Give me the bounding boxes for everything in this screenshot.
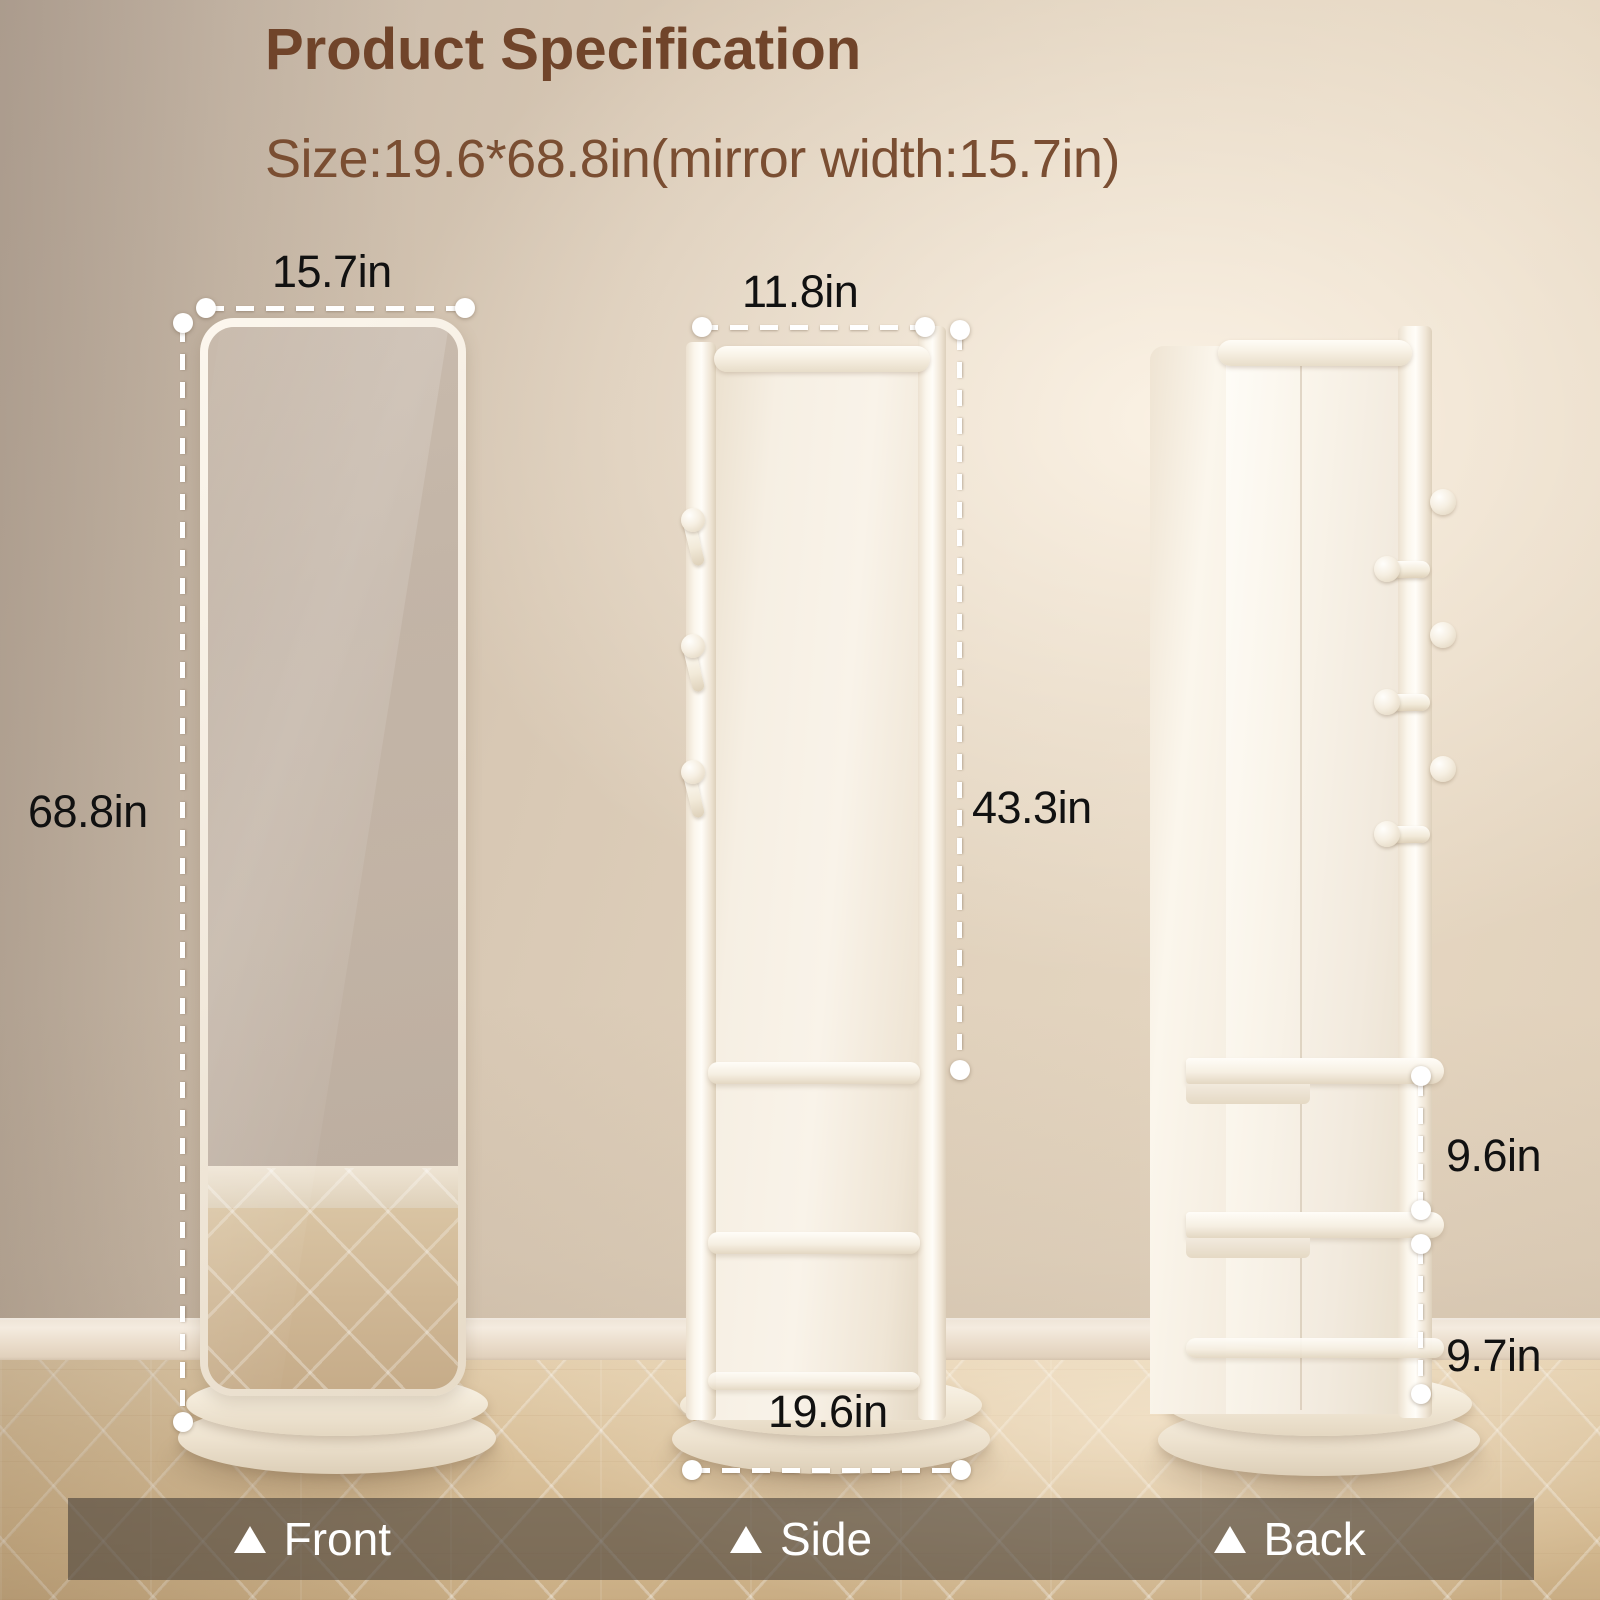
- side-rod-height-dim-dot-top: [950, 320, 970, 340]
- view-label-back: Back: [1045, 1512, 1534, 1566]
- back-upper-shelf-dim-label: 9.6in: [1446, 1130, 1541, 1182]
- back-lower-shelf-dim-label: 9.7in: [1446, 1330, 1541, 1382]
- triangle-up-icon: [234, 1526, 266, 1553]
- back-shelf-upper: [1186, 1058, 1444, 1084]
- side-body-panel: [712, 352, 924, 1420]
- triangle-up-icon: [730, 1526, 762, 1553]
- side-shelf-upper: [708, 1062, 920, 1084]
- view-label-back-text: Back: [1264, 1512, 1366, 1566]
- front-width-dim-dot-right: [455, 298, 475, 318]
- side-rod-height-dim-dot-bottom: [950, 1060, 970, 1080]
- side-width-dim-line: [700, 325, 918, 330]
- page-subtitle: Size:19.6*68.8in(mirror width:15.7in): [265, 128, 1120, 190]
- view-label-side-text: Side: [780, 1512, 872, 1566]
- side-hook-2-ball: [681, 634, 705, 658]
- back-hook-r1: [1430, 489, 1456, 515]
- back-shelf-upper-bracket: [1186, 1084, 1310, 1104]
- back-hanging-rod: [1218, 340, 1412, 366]
- base-diameter-dim-label: 19.6in: [768, 1386, 888, 1438]
- front-mirror-frame: [200, 318, 466, 1396]
- back-shelf-lower-bracket: [1186, 1238, 1310, 1258]
- front-width-dim-label: 15.7in: [272, 246, 392, 298]
- base-diameter-dim-dot-left: [682, 1460, 702, 1480]
- side-left-post: [686, 342, 716, 1420]
- back-lower-shelf-dim-dot-top: [1411, 1234, 1431, 1254]
- back-hook-l2-ball: [1374, 689, 1400, 715]
- view-label-side: Side: [557, 1512, 1046, 1566]
- back-lower-shelf-dim-dot-bottom: [1411, 1384, 1431, 1404]
- triangle-up-icon: [1214, 1526, 1246, 1553]
- back-hook-r3: [1430, 756, 1456, 782]
- back-upper-shelf-dim-dot-bottom: [1411, 1200, 1431, 1220]
- side-right-post: [918, 326, 946, 1420]
- base-diameter-dim-dot-right: [951, 1460, 971, 1480]
- side-width-dim-dot-right: [915, 317, 935, 337]
- back-hook-r2: [1430, 622, 1456, 648]
- front-height-dim-dot-bottom: [173, 1412, 193, 1432]
- back-hook-l3-ball: [1374, 821, 1400, 847]
- side-hook-3-ball: [681, 760, 705, 784]
- front-height-dim-dot-top: [173, 313, 193, 333]
- side-hook-1-ball: [681, 508, 705, 532]
- front-width-dim-line: [206, 306, 464, 311]
- back-shelf-bottom: [1186, 1338, 1444, 1358]
- side-rod-height-dim-line: [957, 334, 962, 1074]
- side-shelf-lower: [708, 1232, 920, 1254]
- back-right-post: [1398, 326, 1432, 1418]
- side-rod-height-dim-label: 43.3in: [972, 782, 1092, 834]
- back-upper-shelf-dim-dot-top: [1411, 1066, 1431, 1086]
- front-width-dim-dot-left: [196, 298, 216, 318]
- back-lower-shelf-dim-line: [1418, 1248, 1423, 1394]
- side-width-dim-label: 11.8in: [742, 266, 858, 318]
- back-hook-l1-ball: [1374, 556, 1400, 582]
- back-upper-shelf-dim-line: [1418, 1080, 1423, 1210]
- view-label-front: Front: [68, 1512, 557, 1566]
- view-label-front-text: Front: [284, 1512, 391, 1566]
- front-mirror-glass: [208, 327, 458, 1389]
- side-hanging-rod: [714, 346, 930, 372]
- base-diameter-dim-line: [692, 1468, 960, 1473]
- front-height-dim-label: 68.8in: [28, 786, 148, 838]
- product-specification-image: 15.7in 68.8in: [0, 0, 1600, 1600]
- page-title: Product Specification: [265, 16, 861, 83]
- front-height-dim-line: [180, 326, 185, 1424]
- side-width-dim-dot-left: [692, 317, 712, 337]
- back-shelf-lower: [1186, 1212, 1444, 1238]
- view-label-bar: Front Side Back: [68, 1498, 1534, 1580]
